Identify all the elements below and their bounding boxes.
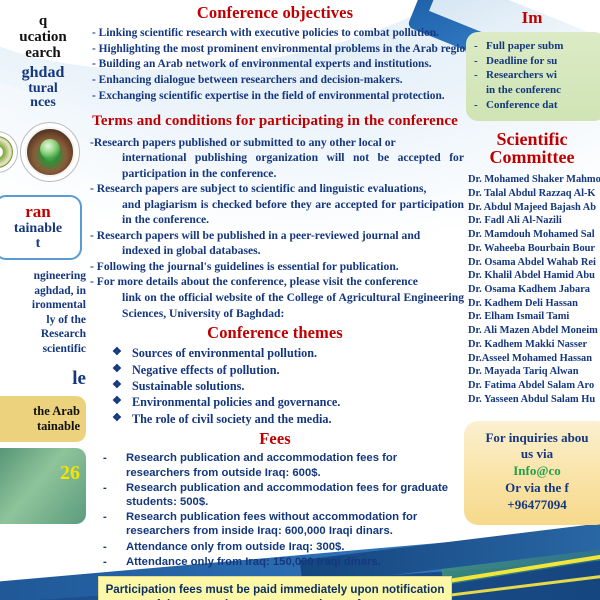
left-description-paragraph: ngineering aghdad, in ironmental ly of t… — [0, 269, 86, 356]
university-seal-logo — [0, 131, 18, 173]
theme-item: ❖ Environmental policies and governance. — [86, 394, 464, 410]
conference-year: 26 — [0, 462, 80, 485]
committee-member: Dr. Mamdouh Mohamed Sal — [464, 228, 600, 242]
scientific-committee-heading-line-2: Committee — [464, 148, 600, 167]
theme-item-label: Environmental policies and governance. — [132, 395, 340, 409]
important-dates-heading: Im — [464, 0, 600, 28]
fees-list: - Research publication and accommodation… — [86, 451, 464, 569]
committee-member: Dr. Yasseen Abdul Salam Hu — [464, 393, 600, 407]
university-seal-icon — [0, 136, 13, 168]
dash-bullet-icon: - — [103, 481, 107, 495]
fee-item: - Research publication and accommodation… — [86, 481, 464, 509]
important-date-label: Deadline for su — [486, 55, 557, 67]
important-date-row: - Deadline for su — [470, 54, 600, 69]
payment-notice-box: Participation fees must be paid immediat… — [98, 576, 452, 600]
objectives-heading: Conference objectives — [86, 3, 464, 23]
objective-item: - Building an Arab network of environmen… — [86, 57, 464, 73]
terms-list: -Research papers published or submitted … — [86, 135, 464, 321]
left-section-title: le — [0, 368, 86, 390]
conference-title-blue-1: tainable — [0, 221, 76, 236]
committee-member: Dr. Khalil Abdel Hamid Abu — [464, 269, 600, 283]
diamond-bullet-icon: ❖ — [112, 378, 122, 393]
objective-item: - Linking scientific research with execu… — [86, 26, 464, 42]
fee-item: - Attendance only from outside Iraq: 300… — [86, 540, 464, 554]
dash-bullet-icon: - — [474, 54, 478, 69]
conference-title-red: ran — [0, 203, 76, 221]
committee-member: Dr. Abdul Majeed Bajash Ab — [464, 201, 600, 215]
committee-member: Dr. Ali Mazen Abdel Moneim — [464, 324, 600, 338]
left-institution-line-1: ghdad — [0, 65, 86, 82]
conference-poster: q ucation earch ghdad tural nces ran tai… — [0, 0, 600, 600]
terms-item-cont: indexed in global databases. — [100, 243, 464, 259]
terms-item-lead: - Research papers will be published in a… — [90, 229, 420, 242]
committee-member: Dr. Kadhem Makki Nasser — [464, 338, 600, 352]
fee-item: - Research publication fees without acco… — [86, 510, 464, 538]
committee-member: Dr.Asseel Mohamed Hassan — [464, 352, 600, 366]
committee-member: Dr. Osama Kadhem Jabara — [464, 283, 600, 297]
terms-item-cont: international publishing organization wi… — [100, 150, 464, 181]
important-date-row: - Full paper subm — [470, 39, 600, 54]
fee-item-label: Attendance only from Iraq: 150,000 Iraqi… — [126, 556, 381, 568]
left-description-line-4: ly of the — [0, 313, 86, 327]
important-date-row: - Conference dat — [470, 98, 600, 113]
left-green-box: 26 — [0, 448, 86, 524]
left-description-line-3: ironmental — [0, 298, 86, 312]
diamond-bullet-icon: ❖ — [112, 411, 122, 426]
terms-item: - Research papers are subject to scienti… — [86, 181, 464, 228]
fee-item-label: Research publication fees without accomm… — [126, 511, 417, 537]
objective-item: - Exchanging scientific expertise in the… — [86, 89, 464, 105]
diamond-bullet-icon: ❖ — [112, 345, 122, 360]
inquiries-line-3: Or via the f — [468, 480, 600, 497]
theme-item: ❖ Negative effects of pollution. — [86, 362, 464, 378]
center-column: Conference objectives - Linking scientif… — [86, 0, 464, 600]
inquiries-line-2: us via — [468, 446, 600, 463]
terms-item-lead: - Following the journal's guidelines is … — [90, 260, 399, 273]
terms-item-lead: -Research papers published or submitted … — [90, 136, 396, 149]
committee-member: Dr. Fadl Ali Al-Nazili — [464, 214, 600, 228]
committee-member: Dr. Fatima Abdel Salam Aro — [464, 379, 600, 393]
terms-item-lead: - For more details about the conference,… — [90, 275, 418, 288]
dash-bullet-icon: - — [103, 451, 107, 465]
theme-item: ❖ Sustainable solutions. — [86, 378, 464, 394]
theme-item-label: Sustainable solutions. — [132, 379, 244, 393]
fee-item-label: Research publication and accommodation f… — [126, 452, 397, 478]
scientific-committee-list: Dr. Mohamed Shaker Mahmo Dr. Talal Abdul… — [464, 173, 600, 406]
logo-row — [0, 121, 86, 183]
fee-item: - Research publication and accommodation… — [86, 451, 464, 479]
conference-title-blue-2: t — [0, 236, 76, 251]
important-date-label: Full paper subm — [486, 40, 563, 52]
left-header-line-1: q — [0, 14, 86, 30]
important-date-label: Conference dat — [486, 99, 558, 111]
important-dates-box: - Full paper subm - Deadline for su - Re… — [466, 32, 600, 121]
committee-member: Dr. Elham Ismail Tami — [464, 310, 600, 324]
dash-bullet-icon: - — [474, 98, 478, 113]
fees-heading: Fees — [86, 429, 464, 449]
committee-member: Dr. Talal Abdul Razzaq Al-K — [464, 187, 600, 201]
inquiries-phone: +96477094 — [468, 497, 600, 514]
terms-item-cont: and plagiarism is checked before they ar… — [100, 197, 464, 228]
theme-item: ❖ The role of civil society and the medi… — [86, 411, 464, 427]
terms-item: - Research papers will be published in a… — [86, 228, 464, 259]
dash-bullet-icon: - — [474, 39, 478, 54]
important-date-continuation: in the conferenc — [470, 83, 600, 98]
theme-item: ❖ Sources of environmental pollution. — [86, 345, 464, 361]
inquiries-line-1: For inquiries abou — [468, 430, 600, 447]
terms-heading: Terms and conditions for participating i… — [86, 113, 464, 130]
terms-item-cont: link on the official website of the Coll… — [100, 290, 464, 321]
themes-heading: Conference themes — [86, 323, 464, 343]
important-date-row: - Researchers wi — [470, 68, 600, 83]
terms-item: -Research papers published or submitted … — [86, 135, 464, 182]
terms-item-lead: - Research papers are subject to scienti… — [90, 182, 426, 195]
left-column: q ucation earch ghdad tural nces ran tai… — [0, 0, 86, 600]
committee-member: Dr. Osama Abdel Wahab Rei — [464, 256, 600, 270]
dash-bullet-icon: - — [103, 510, 107, 524]
left-description-line-2: aghdad, in — [0, 284, 86, 298]
left-header-block: q ucation earch — [0, 0, 86, 62]
globe-hands-icon — [25, 127, 75, 177]
themes-list: ❖ Sources of environmental pollution. ❖ … — [86, 345, 464, 427]
committee-member: Dr. Mohamed Shaker Mahmo — [464, 173, 600, 187]
dash-bullet-icon: - — [474, 68, 478, 83]
left-description-line-5: Research — [0, 327, 86, 341]
objective-item: - Highlighting the most prominent enviro… — [86, 42, 464, 58]
diamond-bullet-icon: ❖ — [112, 394, 122, 409]
left-institution-line-2: tural — [0, 82, 86, 97]
committee-member: Dr. Mayada Tariq Alwan — [464, 365, 600, 379]
inquiries-email[interactable]: Info@co — [468, 463, 600, 480]
terms-item: - Following the journal's guidelines is … — [86, 259, 464, 275]
left-header-line-2: ucation — [0, 30, 86, 46]
committee-member: Dr. Kadhem Deli Hassan — [464, 297, 600, 311]
left-yellow-line-1: the Arab — [0, 404, 80, 419]
conference-globe-hands-logo — [20, 122, 80, 182]
theme-item-label: Sources of environmental pollution. — [132, 346, 317, 360]
left-institution-line-3: nces — [0, 96, 86, 111]
left-yellow-box: the Arab tainable — [0, 396, 86, 442]
objective-item: - Enhancing dialogue between researchers… — [86, 73, 464, 89]
fee-item-label: Research publication and accommodation f… — [126, 482, 448, 508]
fee-item: - Attendance only from Iraq: 150,000 Ira… — [86, 555, 464, 569]
theme-item-label: Negative effects of pollution. — [132, 363, 280, 377]
theme-item-label: The role of civil society and the media. — [132, 412, 332, 426]
scientific-committee-heading: Scientific Committee — [464, 130, 600, 167]
inquiries-box: For inquiries abou us via Info@co Or via… — [464, 421, 600, 525]
fee-item-label: Attendance only from outside Iraq: 300$. — [126, 541, 344, 553]
scientific-committee-heading-line-1: Scientific — [464, 130, 600, 149]
dash-bullet-icon: - — [103, 540, 107, 554]
terms-item: - For more details about the conference,… — [86, 274, 464, 321]
diamond-bullet-icon: ❖ — [112, 362, 122, 377]
objectives-list: - Linking scientific research with execu… — [86, 26, 464, 105]
left-yellow-line-2: tainable — [0, 419, 80, 434]
dash-bullet-icon: - — [103, 555, 107, 569]
committee-member: Dr. Waheeba Bourbain Bour — [464, 242, 600, 256]
right-column: Im - Full paper subm - Deadline for su -… — [464, 0, 600, 600]
conference-title-card: ran tainable t — [0, 195, 82, 260]
left-institution-block: ghdad tural nces — [0, 65, 86, 112]
important-date-label: Researchers wi — [486, 69, 557, 81]
left-header-line-3: earch — [0, 46, 86, 62]
left-description-line-6: scientific — [0, 342, 86, 356]
left-description-line-1: ngineering — [0, 269, 86, 283]
